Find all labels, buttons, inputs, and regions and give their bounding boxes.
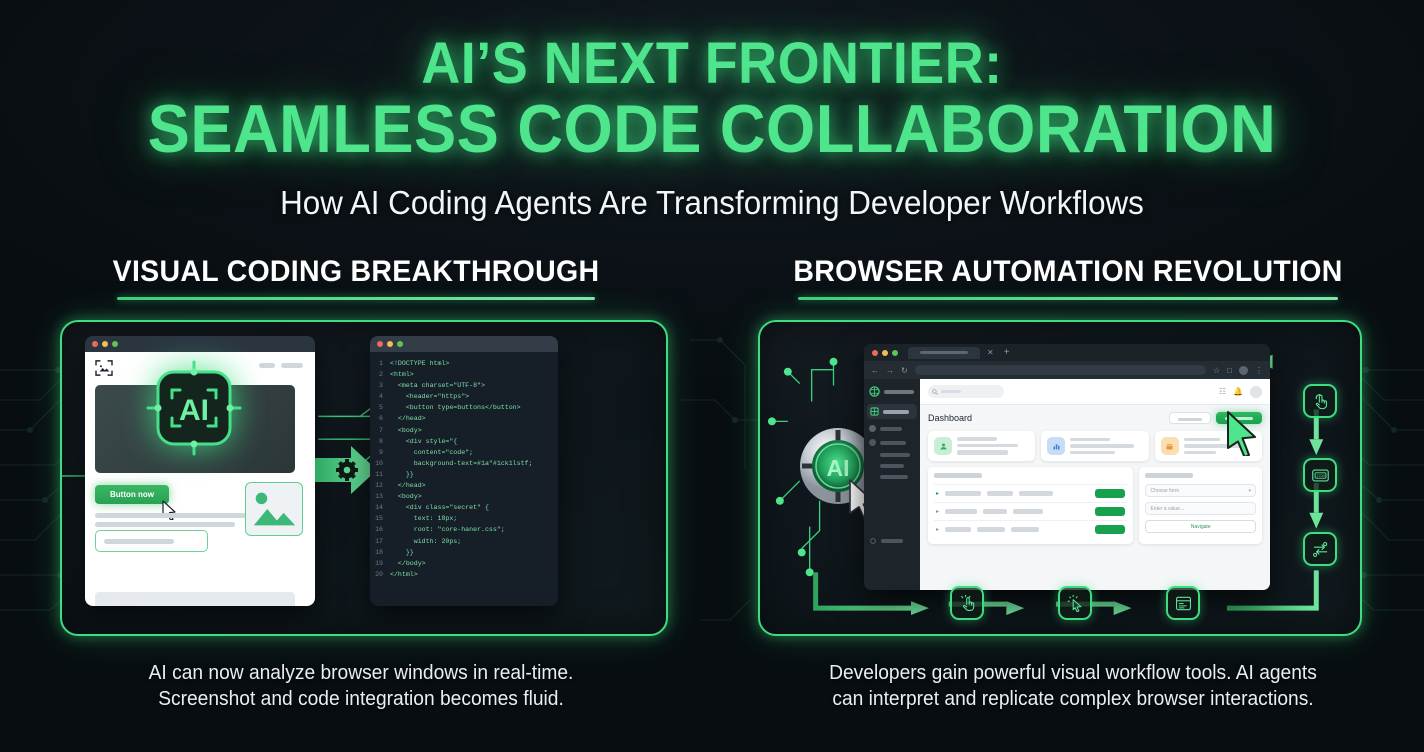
app-sidebar: [864, 379, 920, 590]
minimize-dot-icon[interactable]: [387, 341, 393, 347]
sidebar-item[interactable]: [869, 464, 915, 468]
chevron-right-icon[interactable]: ▸: [936, 526, 939, 533]
brain-logo-icon: [869, 386, 880, 397]
flow-step-capture[interactable]: 1700: [1303, 458, 1337, 492]
dashboard-icon: [870, 407, 879, 416]
code-line-text: </head>: [390, 413, 426, 424]
flow-step-click[interactable]: [1058, 586, 1092, 620]
code-line-number: 7: [370, 425, 390, 436]
code-line: 3 <meta charset="UTF-8">: [370, 380, 558, 391]
code-line-text: <html>: [390, 369, 414, 380]
code-line-number: 19: [370, 558, 390, 569]
code-line: 10 background-text=#1a"#1ck1lstf;: [370, 458, 558, 469]
code-line-number: 17: [370, 536, 390, 547]
code-line-number: 8: [370, 436, 390, 447]
press-hand-icon: [1312, 393, 1329, 410]
form-submit-button[interactable]: Navigate: [1145, 520, 1256, 533]
code-line-number: 2: [370, 369, 390, 380]
code-line-number: 5: [370, 402, 390, 413]
users-icon: [934, 437, 952, 455]
bell-icon[interactable]: 🔔: [1233, 387, 1243, 396]
maximize-dot-icon[interactable]: [112, 341, 118, 347]
code-lines: 1<!DOCTYPE html>2<html>3 <meta charset="…: [370, 352, 558, 606]
code-line: 5 <button type=buttons</button>: [370, 402, 558, 413]
arrow-right-icon[interactable]: →: [886, 366, 894, 375]
code-line-number: 14: [370, 502, 390, 513]
ai-orb-label: AI: [827, 455, 850, 481]
screenshot-titlebar: [85, 336, 315, 352]
browser-viewport: ☷ 🔔 Dashboard: [864, 379, 1270, 590]
row-action-button[interactable]: [1095, 507, 1125, 516]
dashboard-topbar: ☷ 🔔: [920, 379, 1270, 405]
side-panel-icon[interactable]: □: [1227, 366, 1232, 375]
code-line-number: 18: [370, 547, 390, 558]
table-row[interactable]: ▸: [934, 520, 1127, 538]
code-line: 14 <div class="secret" {: [370, 502, 558, 513]
code-editor-window[interactable]: 1<!DOCTYPE html>2<html>3 <meta charset="…: [370, 336, 558, 606]
screen-capture-icon: 1700: [1311, 467, 1330, 484]
sidebar-item[interactable]: [869, 453, 915, 457]
table-row[interactable]: ▸: [934, 484, 1127, 502]
minimize-dot-icon[interactable]: [882, 350, 888, 356]
transform-arrow-with-gear-icon: [315, 442, 377, 498]
section-title-visual-coding: VISUAL CODING BREAKTHROUGH: [18, 255, 694, 289]
section-heading-right: BROWSER AUTOMATION REVOLUTION: [712, 255, 1424, 300]
code-editor-titlebar: [370, 336, 558, 352]
footer-block: [95, 592, 295, 606]
form-select[interactable]: Choose form ▾: [1145, 484, 1256, 497]
data-table: ▸ ▸ ▸: [928, 467, 1133, 544]
chevron-right-icon[interactable]: ▸: [936, 490, 939, 497]
code-line: 9 content="code";: [370, 447, 558, 458]
package-icon: [1161, 437, 1179, 455]
text-input-field[interactable]: [95, 530, 208, 552]
code-line: 6 </head>: [370, 413, 558, 424]
search-icon: [932, 389, 938, 395]
code-line-number: 12: [370, 480, 390, 491]
plus-icon[interactable]: +: [1004, 347, 1010, 358]
section-heading-left: VISUAL CODING BREAKTHROUGH: [0, 255, 712, 300]
dashboard-header: Dashboard: [928, 412, 1262, 424]
button-now[interactable]: Button now: [95, 485, 169, 504]
automation-browser-window[interactable]: ✕ + ← → ↻ ☆ □ ⋮: [864, 344, 1270, 590]
image-placeholder: [245, 482, 303, 536]
code-line: 19 </body>: [370, 558, 558, 569]
code-line-number: 20: [370, 569, 390, 580]
code-line: 2<html>: [370, 369, 558, 380]
sync-arrows-icon: [1312, 541, 1329, 558]
chevron-right-icon[interactable]: ▸: [936, 508, 939, 515]
arrow-left-icon[interactable]: ←: [871, 366, 879, 375]
form-input-placeholder: Enter a value...: [1150, 506, 1184, 512]
code-line-text: }}: [390, 469, 414, 480]
code-line-number: 13: [370, 491, 390, 502]
avatar[interactable]: [1239, 366, 1248, 375]
code-line-text: background-text=#1a"#1ck1lstf;: [390, 458, 532, 469]
code-line-number: 10: [370, 458, 390, 469]
code-line-text: <header="https">: [390, 391, 469, 402]
kebab-menu-icon[interactable]: ⋮: [1255, 366, 1263, 375]
code-line: 8 <div style="{: [370, 436, 558, 447]
page-header: AI’S NEXT FRONTIER: SEAMLESS CODE COLLAB…: [0, 0, 1424, 222]
cursor-click-icon: [1067, 595, 1084, 612]
flow-step-document[interactable]: [1166, 586, 1200, 620]
code-line: 7 <body>: [370, 425, 558, 436]
code-line-number: 3: [370, 380, 390, 391]
document-window-icon: [1175, 595, 1192, 612]
code-line-text: width: 20ps;: [390, 536, 461, 547]
gear-icon: [869, 537, 877, 545]
url-input[interactable]: [915, 365, 1206, 375]
browser-tab[interactable]: [908, 347, 980, 359]
sidebar-logo-row: [869, 386, 915, 397]
tap-hand-icon: [959, 595, 976, 612]
code-line-text: <button type=buttons</button>: [390, 402, 521, 413]
caption-left: AI can now analyze browser windows in re…: [14, 660, 707, 712]
form-panel: Choose form ▾ Enter a value... Navigate: [1139, 467, 1262, 544]
dashboard-cursor-icon: [1226, 410, 1262, 456]
row-action-button[interactable]: [1095, 525, 1125, 534]
code-line-text: <!DOCTYPE html>: [390, 358, 449, 369]
code-line: 20</html>: [370, 569, 558, 580]
sidebar-item[interactable]: [869, 475, 915, 479]
avatar[interactable]: [1250, 386, 1262, 398]
page-title-line-2: SEAMLESS CODE COLLABORATION: [50, 97, 1374, 162]
code-line-number: 15: [370, 513, 390, 524]
code-line-number: 11: [370, 469, 390, 480]
page-title-line-1: AI’S NEXT FRONTIER:: [50, 36, 1374, 91]
flow-step-press[interactable]: [1303, 384, 1337, 418]
code-line-number: 1: [370, 358, 390, 369]
caption-right: Developers gain powerful visual workflow…: [736, 660, 1410, 712]
code-line-text: </head>: [390, 480, 426, 491]
dashboard-content: ☷ 🔔 Dashboard: [920, 379, 1270, 590]
star-icon[interactable]: ☆: [1213, 366, 1220, 375]
secondary-button[interactable]: [1169, 412, 1211, 424]
code-line: 1<!DOCTYPE html>: [370, 358, 558, 369]
code-line-number: 16: [370, 524, 390, 535]
code-line: 12 </head>: [370, 480, 558, 491]
code-line-text: root: "core-haner.css";: [390, 524, 505, 535]
dot-icon: [869, 425, 876, 432]
code-line-text: <div style="{: [390, 436, 457, 447]
ai-chip-icon: AI: [146, 360, 242, 456]
code-line: 11 }}: [370, 469, 558, 480]
capture-label: 1700: [1316, 474, 1325, 478]
code-line-number: 4: [370, 391, 390, 402]
page-subtitle: How AI Coding Agents Are Transforming De…: [36, 184, 1389, 222]
search-input[interactable]: [928, 385, 1004, 398]
sidebar-item[interactable]: [869, 439, 915, 446]
browser-tab-bar: ✕ +: [864, 344, 1270, 361]
form-input[interactable]: Enter a value...: [1145, 502, 1256, 515]
code-line: 18 }}: [370, 547, 558, 558]
close-dot-icon[interactable]: [872, 350, 878, 356]
code-line: 17 width: 20ps;: [370, 536, 558, 547]
flow-step-sync[interactable]: [1303, 532, 1337, 566]
dot-icon: [869, 439, 876, 446]
minimize-dot-icon[interactable]: [102, 341, 108, 347]
section-headings: VISUAL CODING BREAKTHROUGH BROWSER AUTOM…: [0, 255, 1424, 300]
code-line: 4 <header="https">: [370, 391, 558, 402]
row-action-button[interactable]: [1095, 489, 1125, 498]
code-line-text: content="code";: [390, 447, 473, 458]
ai-chip-label: AI: [179, 394, 209, 427]
code-line-text: <body>: [390, 425, 422, 436]
bar-chart-icon: [1047, 437, 1065, 455]
browser-address-bar: ← → ↻ ☆ □ ⋮: [864, 361, 1270, 379]
sidebar-item[interactable]: [869, 425, 915, 432]
code-line-text: </html>: [390, 569, 418, 580]
stat-card[interactable]: [1041, 431, 1148, 461]
sidebar-item-active[interactable]: [867, 404, 917, 419]
code-line-number: 9: [370, 447, 390, 458]
code-line-text: </body>: [390, 558, 426, 569]
flow-step-tap[interactable]: [950, 586, 984, 620]
right-illustration-panel: AI ✕ + ← → ↻ ☆ □ ⋮: [758, 320, 1362, 636]
chevron-down-icon: ▾: [1248, 488, 1251, 494]
stat-cards: [928, 431, 1262, 461]
sidebar-item-settings[interactable]: [869, 537, 915, 545]
panel-captions: AI can now analyze browser windows in re…: [0, 660, 1424, 712]
maximize-dot-icon[interactable]: [397, 341, 403, 347]
form-select-value: Choose form: [1150, 488, 1179, 494]
code-line-text: <div class="secret" {: [390, 502, 489, 513]
maximize-dot-icon[interactable]: [892, 350, 898, 356]
reload-icon[interactable]: ↻: [901, 366, 908, 375]
table-row[interactable]: ▸: [934, 502, 1127, 520]
stat-card[interactable]: [928, 431, 1035, 461]
section-underline-left: [117, 297, 595, 300]
section-title-browser-automation: BROWSER AUTOMATION REVOLUTION: [730, 255, 1406, 289]
code-line-number: 6: [370, 413, 390, 424]
code-line: 13 <body>: [370, 491, 558, 502]
close-dot-icon[interactable]: [92, 341, 98, 347]
image-scan-icon: [95, 360, 113, 376]
close-dot-icon[interactable]: [377, 341, 383, 347]
code-line: 16 root: "core-haner.css";: [370, 524, 558, 535]
code-line-text: <meta charset="UTF-8">: [390, 380, 485, 391]
left-illustration-panel: Button now: [60, 320, 668, 636]
apps-grid-icon[interactable]: ☷: [1219, 387, 1226, 396]
code-line-text: <body>: [390, 491, 422, 502]
code-line: 15 text: 18px;: [370, 513, 558, 524]
section-underline-right: [798, 297, 1338, 300]
close-icon[interactable]: ✕: [987, 348, 994, 357]
dashboard-title: Dashboard: [928, 413, 972, 423]
code-line-text: }}: [390, 547, 414, 558]
code-line-text: text: 18px;: [390, 513, 457, 524]
